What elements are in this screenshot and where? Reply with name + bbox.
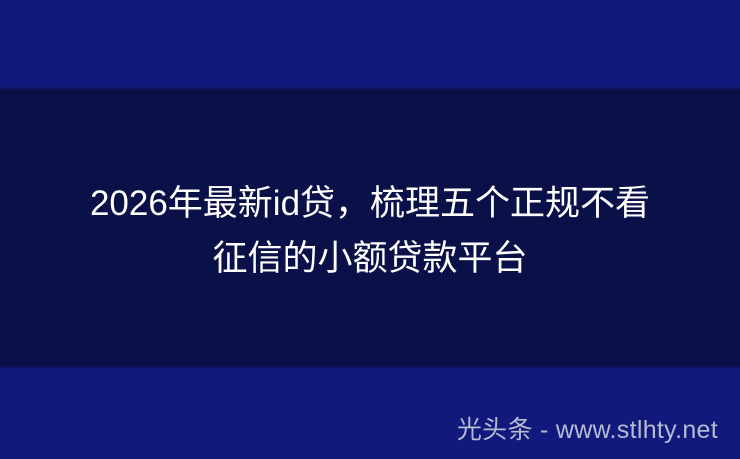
site-watermark: 光头条 - www.stlhty.net <box>457 413 718 447</box>
cover-title-line-2: 征信的小额贷款平台 <box>0 231 740 286</box>
site-watermark-text: 光头条 - www.stlhty.net <box>457 413 718 447</box>
cover-title-line-1: 2026年最新id贷，梳理五个正规不看 <box>0 176 740 231</box>
cover-image-canvas: 2026年最新id贷，梳理五个正规不看 征信的小额贷款平台 光头条 - www.… <box>0 0 740 459</box>
background-band-top <box>0 0 740 89</box>
cover-title: 2026年最新id贷，梳理五个正规不看 征信的小额贷款平台 <box>0 176 740 286</box>
